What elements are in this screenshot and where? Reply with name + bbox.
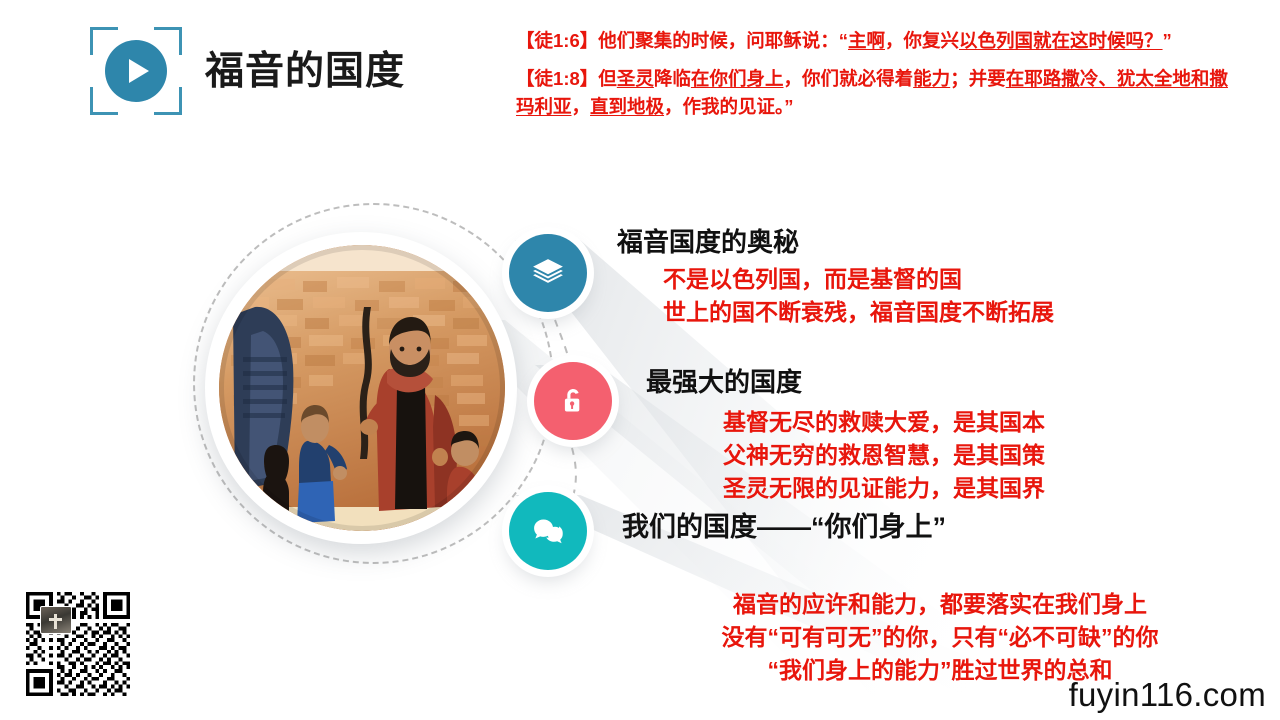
scripture-block: 【徒1:6】他们聚集的时候，问耶稣说：“主啊，你复兴以色列国就在这时候吗？” 【… (516, 27, 1228, 131)
section-line: 父神无穷的救恩智慧，是其国策 (723, 439, 1045, 472)
illustration-photo (219, 245, 505, 531)
site-watermark: fuyin116.com (1069, 676, 1266, 714)
section-line: 基督无尽的救赎大爱，是其国本 (723, 406, 1045, 439)
section-heading-1: 福音国度的奥秘 (617, 222, 799, 259)
section-heading-2: 最强大的国度 (646, 362, 802, 399)
layers-icon (529, 254, 567, 292)
section-icon-unlock[interactable] (534, 362, 612, 440)
section-line: 世上的国不断衰残，福音国度不断拓展 (663, 296, 1054, 329)
brand-logo[interactable] (90, 27, 182, 115)
section-icon-chat[interactable] (509, 492, 587, 570)
chat-bubbles-icon (529, 512, 567, 550)
section-line: 没有“可有可无”的你，只有“必不可缺”的你 (650, 621, 1230, 654)
play-triangle-icon (129, 59, 149, 83)
qr-code[interactable] (22, 588, 134, 700)
unlock-icon (555, 383, 591, 419)
section-line: 福音的应许和能力，都要落实在我们身上 (650, 588, 1230, 621)
section-lines-3: 福音的应许和能力，都要落实在我们身上 没有“可有可无”的你，只有“必不可缺”的你… (650, 588, 1230, 687)
scripture-verse-2: 【徒1:8】但圣灵降临在你们身上，你们就必得着能力；并要在耶路撒冷、犹太全地和撒… (516, 65, 1228, 121)
section-heading-3: 我们的国度——“你们身上” (622, 505, 946, 544)
play-button-icon[interactable] (105, 40, 167, 102)
slide-canvas: 福音的国度 【徒1:6】他们聚集的时候，问耶稣说：“主啊，你复兴以色列国就在这时… (0, 0, 1280, 720)
section-lines-2: 基督无尽的救赎大爱，是其国本 父神无穷的救恩智慧，是其国策 圣灵无限的见证能力，… (723, 406, 1045, 505)
page-title: 福音的国度 (205, 40, 405, 96)
qr-embedded-image (40, 606, 72, 634)
section-lines-1: 不是以色列国，而是基督的国 世上的国不断衰残，福音国度不断拓展 (663, 263, 1054, 329)
section-icon-layers[interactable] (509, 234, 587, 312)
section-line: 不是以色列国，而是基督的国 (663, 263, 1054, 296)
scripture-verse-1: 【徒1:6】他们聚集的时候，问耶稣说：“主啊，你复兴以色列国就在这时候吗？” (516, 27, 1228, 55)
section-line: 圣灵无限的见证能力，是其国界 (723, 472, 1045, 505)
